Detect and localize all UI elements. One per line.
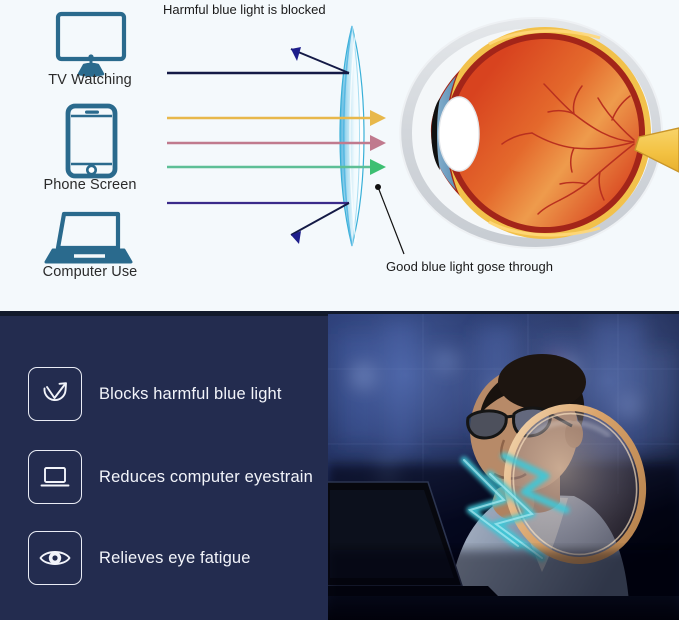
blue-light-blocking-lens [340,26,364,246]
device-label-phone-screen: Phone Screen [15,177,165,193]
caption-leader-line [375,184,404,254]
caption-good-light-through: Good blue light gose through [386,259,553,274]
eye-cross-section-diagram [400,18,679,248]
eye-outline-icon-box [28,531,82,585]
laptop-outline-icon [37,459,73,495]
feature-list-panel: Blocks harmful blue light Reduces comput… [0,316,328,620]
ray-blocked-bottom [167,203,349,244]
photo-artwork [328,314,679,620]
feature-label: Relieves eye fatigue [99,549,251,568]
laptop-outline-icon-box [28,450,82,504]
feature-item-reduces-eyestrain: Reduces computer eyestrain [0,449,328,505]
infographic-page: Harmful blue light is blocked Good blue … [0,0,679,620]
feature-item-blocks-blue-light: Blocks harmful blue light [0,366,328,422]
device-label-computer-use: Computer Use [15,264,165,280]
feature-item-relieves-fatigue: Relieves eye fatigue [0,530,328,586]
blue-light-diagram-panel: Harmful blue light is blocked Good blue … [0,0,679,311]
feature-label: Reduces computer eyestrain [99,468,313,487]
caption-harmful-blocked: Harmful blue light is blocked [163,2,326,17]
shield-check-arrow-icon [37,376,73,412]
ray-blocked-top [167,47,349,73]
monitor-icon [58,14,124,76]
feature-label: Blocks harmful blue light [99,385,282,404]
lifestyle-photo [328,314,679,620]
eye-outline-icon [37,540,73,576]
device-label-tv-watching: TV Watching [15,72,165,88]
laptop-icon [46,214,131,262]
shield-check-arrow-icon-box [28,367,82,421]
smartphone-icon [68,106,115,176]
